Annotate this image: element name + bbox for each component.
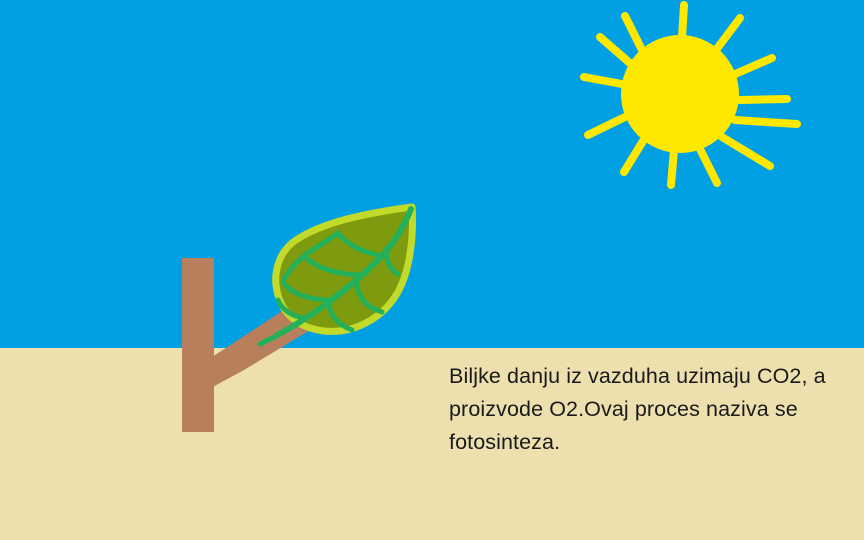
sun-ray-1	[625, 16, 642, 50]
sun-ray-2	[682, 5, 684, 38]
sun-ray-5	[740, 99, 787, 100]
sun-ray-11	[588, 117, 625, 135]
sun-ray-3	[716, 18, 740, 50]
drawing-canvas: Biljke danju iz vazduha uzimaju CO2, a p…	[0, 0, 864, 540]
sun-ray-7	[722, 137, 770, 166]
sun-ray-6	[735, 120, 797, 124]
sun-ray-12	[584, 77, 622, 84]
sun-ray-13	[600, 37, 631, 64]
sun-ray-10	[624, 141, 643, 172]
tree-trunk	[182, 258, 214, 432]
caption-text: Biljke danju iz vazduha uzimaju CO2, a p…	[449, 360, 859, 459]
sun-ray-4	[733, 58, 772, 75]
sun	[584, 5, 797, 185]
sun-disc	[621, 35, 739, 153]
sun-ray-8	[700, 149, 717, 183]
sun-ray-9	[671, 150, 674, 185]
scene-illustration	[0, 0, 864, 540]
